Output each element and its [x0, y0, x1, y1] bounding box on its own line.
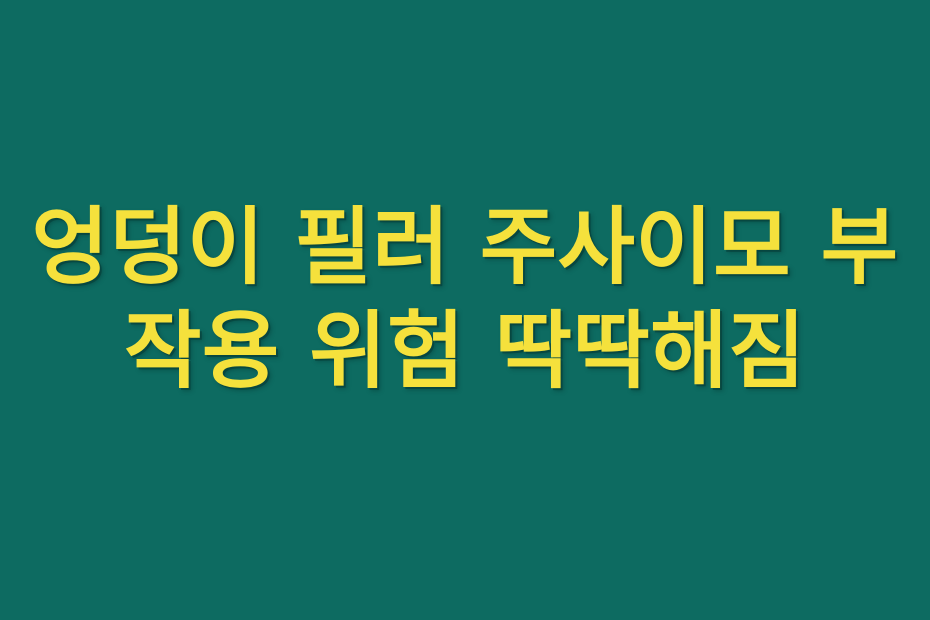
headline-text-block: 엉덩이 필러 주사이모 부 작용 위험 딱딱해짐 — [0, 194, 930, 405]
banner-canvas: 엉덩이 필러 주사이모 부 작용 위험 딱딱해짐 — [0, 0, 930, 620]
headline-line-1: 엉덩이 필러 주사이모 부 — [31, 194, 898, 302]
headline-line-2: 작용 위험 딱딱해짐 — [124, 298, 806, 406]
